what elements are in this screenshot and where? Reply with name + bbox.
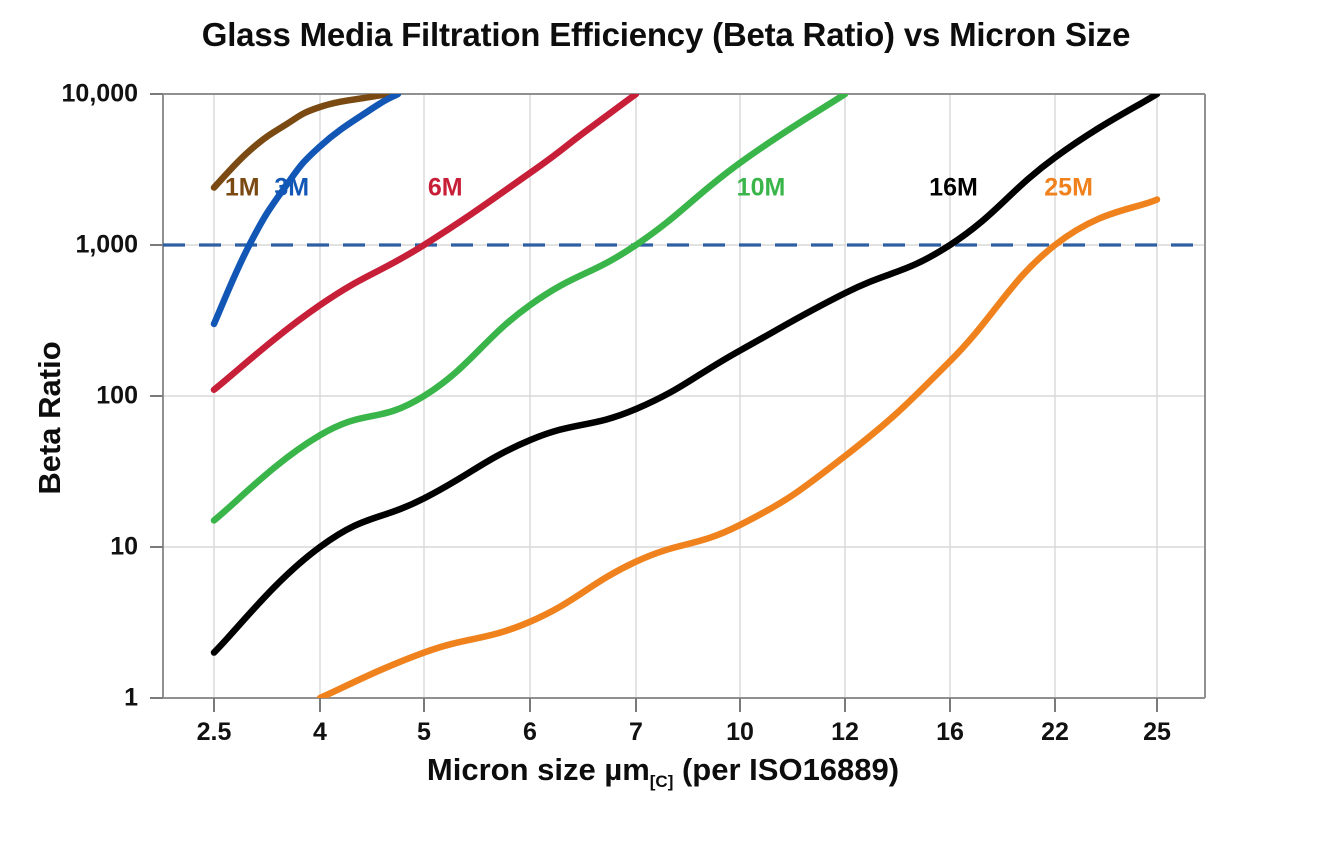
series-label-3m: 3M bbox=[274, 173, 309, 202]
series-line-16m bbox=[214, 94, 1157, 653]
y-tick-label: 1 bbox=[18, 684, 138, 713]
series-line-25m bbox=[320, 200, 1157, 698]
series-label-25m: 25M bbox=[1044, 173, 1093, 202]
x-tick-label: 10 bbox=[695, 718, 785, 747]
y-tick-label: 10,000 bbox=[18, 80, 138, 109]
series-line-6m bbox=[214, 94, 636, 390]
series-line-3m bbox=[214, 94, 398, 324]
x-axis-label-suffix: (per ISO16889) bbox=[673, 752, 899, 787]
series-label-1m: 1M bbox=[225, 173, 260, 202]
y-tick-label: 10 bbox=[18, 533, 138, 562]
series-label-10m: 10M bbox=[737, 173, 786, 202]
x-tick-label: 22 bbox=[1010, 718, 1100, 747]
y-axis-label: Beta Ratio bbox=[32, 268, 68, 568]
y-tick-label: 1,000 bbox=[18, 231, 138, 260]
series-label-6m: 6M bbox=[428, 173, 463, 202]
chart-page: Glass Media Filtration Efficiency (Beta … bbox=[0, 0, 1332, 842]
x-tick-label: 25 bbox=[1112, 718, 1202, 747]
plot-area: Beta Ratio Micron size µm[C] (per ISO168… bbox=[0, 0, 1332, 842]
x-axis-label-subscript: [C] bbox=[650, 772, 674, 791]
x-tick-label: 16 bbox=[905, 718, 995, 747]
chart-svg bbox=[0, 0, 1332, 842]
x-tick-label: 12 bbox=[800, 718, 890, 747]
x-axis-label: Micron size µm[C] (per ISO16889) bbox=[163, 752, 1163, 792]
x-axis-label-main: Micron size µm bbox=[427, 752, 650, 787]
x-tick-label: 4 bbox=[275, 718, 365, 747]
x-tick-label: 2.5 bbox=[169, 718, 259, 747]
series-label-16m: 16M bbox=[929, 173, 978, 202]
x-tick-label: 5 bbox=[379, 718, 469, 747]
y-tick-label: 100 bbox=[18, 382, 138, 411]
x-tick-label: 6 bbox=[485, 718, 575, 747]
x-tick-label: 7 bbox=[591, 718, 681, 747]
